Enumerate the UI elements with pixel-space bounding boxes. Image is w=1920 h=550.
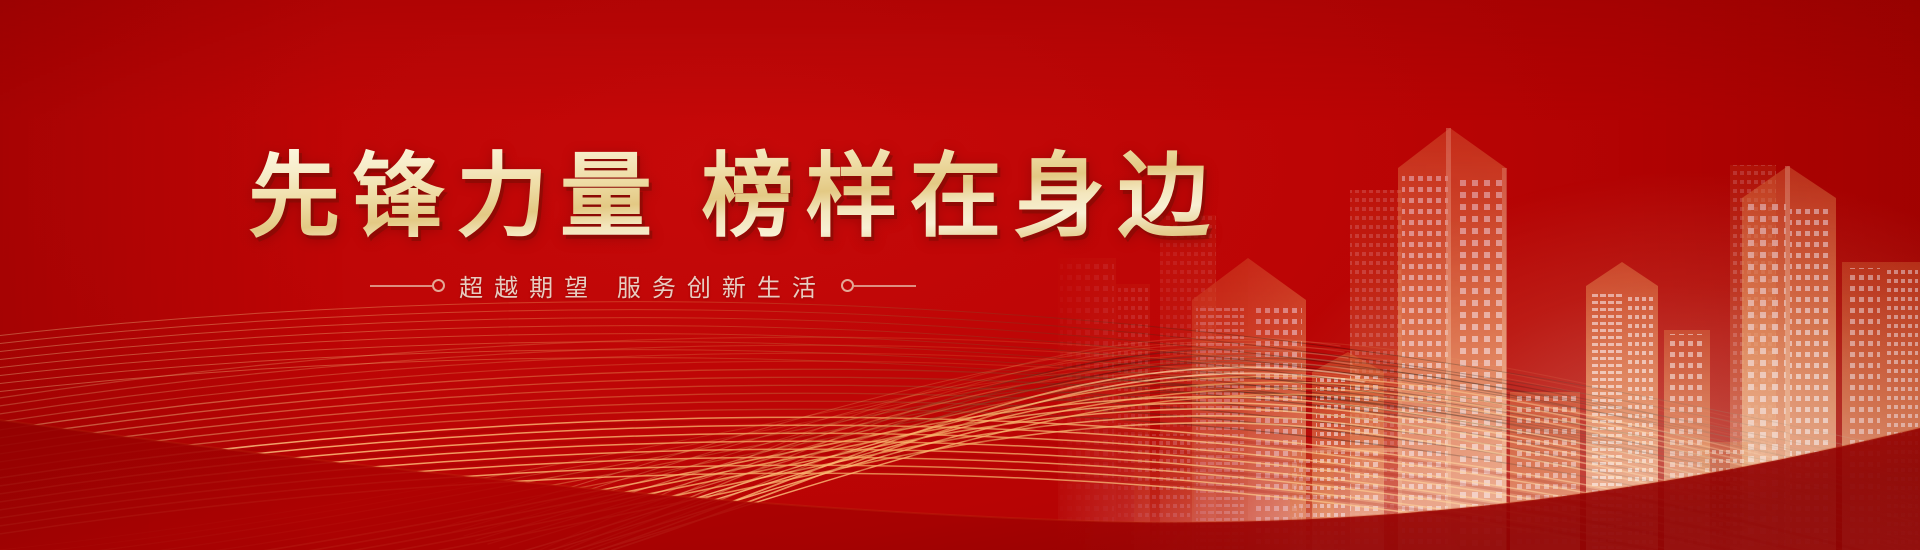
background-base xyxy=(0,0,1920,550)
hero-banner: 先锋力量 榜样在身边 超越期望 服务创新生活 xyxy=(0,0,1920,550)
